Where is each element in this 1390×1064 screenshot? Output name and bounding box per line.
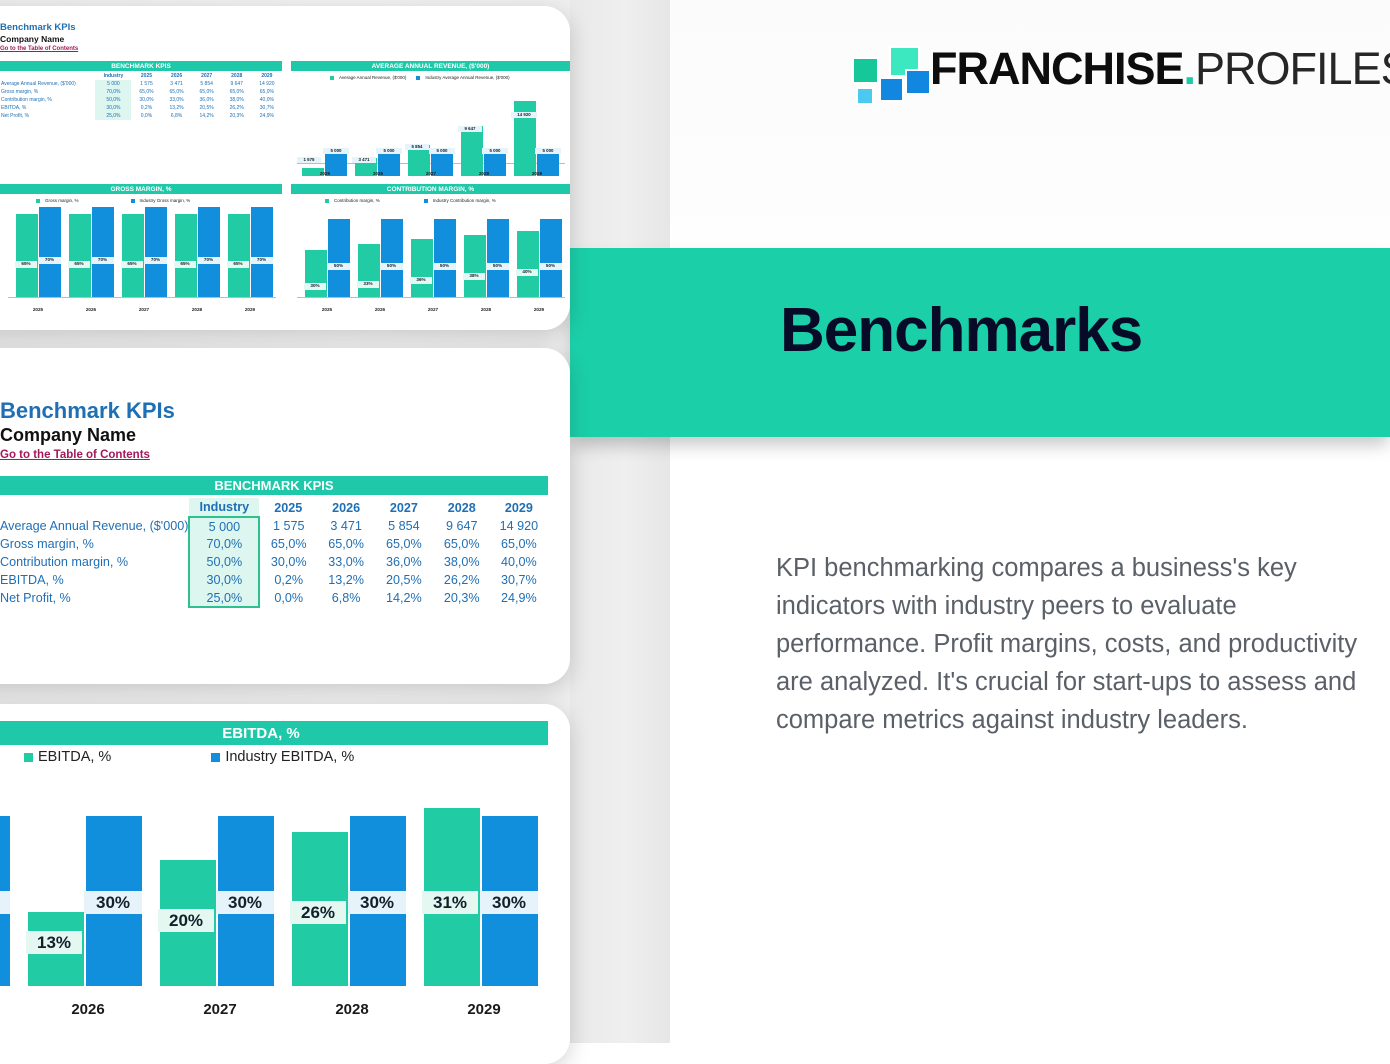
cell: 9 647 <box>222 80 252 88</box>
x-tick: 2028 <box>462 307 510 312</box>
cell: 65,0% <box>252 88 282 96</box>
data-label: 31% <box>422 891 478 914</box>
cell: 26,2% <box>222 104 252 112</box>
legend-label: Average Annual Revenue, ($'000) <box>339 75 406 80</box>
cell-industry: 50,0% <box>189 553 259 571</box>
sheet-title-small: Benchmark KPIs <box>0 22 76 33</box>
x-tick: 2029 <box>515 307 563 312</box>
cell: 3 471 <box>317 517 375 535</box>
col-2025: 2025 <box>131 72 161 80</box>
cell: 14,2% <box>375 589 433 607</box>
cell: 65,0% <box>192 88 222 96</box>
legend-label: Contribution margin, % <box>334 198 380 203</box>
brand-logo: FRANCHISE.PROFILES <box>852 44 1342 102</box>
x-tick: 2028 <box>286 1001 418 1018</box>
cell: 1 575 <box>259 517 317 535</box>
toc-link-small[interactable]: Go to the Table of Contents <box>0 46 78 52</box>
cell: 5 000 <box>95 80 131 88</box>
cell: 40,0% <box>252 96 282 104</box>
cell: 65,0% <box>162 88 192 96</box>
data-label: 5 000 <box>535 148 561 154</box>
col-2026: 2026 <box>317 498 375 517</box>
mini-plot-contribution: 30% 50% 33% 50% 36% 50% 38% 50% <box>297 206 565 314</box>
cell: 38,0% <box>433 553 491 571</box>
mini-chart-title-gross: GROSS MARGIN, % <box>0 184 282 194</box>
cell: 3 471 <box>162 80 192 88</box>
legend-label: Industry EBITDA, % <box>225 749 354 765</box>
ebitda-legend: EBITDA, % Industry EBITDA, % <box>24 749 354 765</box>
legend-label: Industry Contribution margin, % <box>433 198 496 203</box>
row-label: EBITDA, % <box>0 104 95 112</box>
x-tick: 2029 <box>513 171 561 176</box>
sheet-subtitle: Company Name <box>0 425 136 446</box>
x-tick: 2027 <box>407 171 455 176</box>
data-label: 65% <box>68 261 90 268</box>
data-label: 30% <box>84 891 142 914</box>
logo-square-4 <box>905 69 931 95</box>
cell: 14 920 <box>252 80 282 88</box>
x-tick: 2029 <box>226 307 274 312</box>
data-label: 5 000 <box>429 148 455 154</box>
cell: 65,0% <box>131 88 161 96</box>
legend-swatch-icon <box>416 76 420 80</box>
data-label: 14 920 <box>511 112 537 118</box>
mini-plot-revenue: 1 575 5 000 3 471 5 000 5 854 5 000 <box>297 84 565 176</box>
cell: 33,0% <box>317 553 375 571</box>
data-label: 70% <box>250 257 273 264</box>
col-2028: 2028 <box>222 72 252 80</box>
table-row: Net Profit, % 25,0% 0,0% 6,8% 14,2% 20,3… <box>0 589 547 607</box>
cell: 25,0% <box>95 112 131 120</box>
table-row: Net Profit, % 25,0% 0,0% 6,8% 14,2% 20,3… <box>0 112 282 120</box>
legend-swatch-icon <box>330 76 334 80</box>
row-label: EBITDA, % <box>0 571 189 589</box>
mini-legend-gross: Gross margin, % Industry Gross margin, % <box>36 198 190 203</box>
table-row: EBITDA, % 30,0% 0,2% 13,2% 20,5% 26,2% 3… <box>0 571 547 589</box>
x-tick: 2026 <box>22 1001 154 1018</box>
data-label: 20% <box>158 909 214 932</box>
table-row: Gross margin, % 70,0% 65,0% 65,0% 65,0% … <box>0 88 282 96</box>
data-label: 5 000 <box>323 148 349 154</box>
cell: 6,8% <box>317 589 375 607</box>
sheet-title: Benchmark KPIs <box>0 398 175 424</box>
logo-square-5 <box>856 87 874 105</box>
kpi-table-title: BENCHMARK KPIS <box>0 476 548 495</box>
data-label: 5 854 <box>405 144 429 150</box>
table-row: Contribution margin, % 50,0% 30,0% 33,0%… <box>0 553 547 571</box>
mini-table-title: BENCHMARK KPIS <box>0 61 282 71</box>
ebitda-chart-title: EBITDA, % <box>0 721 548 745</box>
cell: 26,2% <box>433 571 491 589</box>
legend-swatch-icon <box>424 199 428 203</box>
logo-word-profiles: PROFILES <box>1195 43 1390 94</box>
cell: 5 854 <box>192 80 222 88</box>
cell: 30,0% <box>259 553 317 571</box>
legend-label: Industry Average Annual Revenue, ($'000) <box>425 75 509 80</box>
col-2029: 2029 <box>491 498 547 517</box>
col-2029: 2029 <box>252 72 282 80</box>
spreadsheet-kpi-table: Benchmark KPIs Company Name Go to the Ta… <box>0 348 570 684</box>
cell: 65,0% <box>491 535 547 553</box>
data-label: 50% <box>486 263 509 270</box>
cell: 14,2% <box>192 112 222 120</box>
x-tick: 2027 <box>120 307 168 312</box>
data-label: 70% <box>197 257 220 264</box>
logo-dot: . <box>1184 43 1196 94</box>
background-strip-middle <box>570 0 670 1043</box>
col-2025: 2025 <box>259 498 317 517</box>
description-paragraph: KPI benchmarking compares a business's k… <box>776 549 1362 739</box>
col-industry: Industry <box>95 72 131 80</box>
cell: 65,0% <box>222 88 252 96</box>
background-strip-right <box>670 0 1390 1043</box>
cell-industry: 30,0% <box>189 571 259 589</box>
x-tick: 2028 <box>173 307 221 312</box>
data-label: 30% <box>216 891 274 914</box>
legend-swatch-icon <box>211 753 220 762</box>
cell: 6,8% <box>162 112 192 120</box>
cell: 30,7% <box>252 104 282 112</box>
row-label: Average Annual Revenue, ($'000) <box>0 517 189 535</box>
cell-industry: 25,0% <box>189 589 259 607</box>
data-label: 70% <box>91 257 114 264</box>
x-tick: 2025 <box>14 307 62 312</box>
data-label: 30% <box>480 891 538 914</box>
data-label: 9 647 <box>458 126 482 132</box>
data-label: 30% <box>348 891 406 914</box>
table-row: Average Annual Revenue, ($'000) 5 000 1 … <box>0 517 547 535</box>
data-label: 38% <box>463 273 485 280</box>
cell: 20,3% <box>222 112 252 120</box>
logo-square-1 <box>852 57 879 84</box>
data-label: 40% <box>516 269 538 276</box>
x-tick: 2025 <box>303 307 351 312</box>
cell-industry: 70,0% <box>189 535 259 553</box>
mini-chart-title-contribution: CONTRIBUTION MARGIN, % <box>291 184 570 194</box>
data-label: 50% <box>539 263 562 270</box>
cell: 0,0% <box>259 589 317 607</box>
data-label: 65% <box>227 261 249 268</box>
data-label: 13% <box>26 931 82 954</box>
cell: 36,0% <box>375 553 433 571</box>
cell: 30,7% <box>491 571 547 589</box>
legend-swatch-icon <box>131 199 135 203</box>
slide-card-kpi-table[interactable]: Benchmark KPIs Company Name Go to the Ta… <box>0 348 570 684</box>
cell: 65,0% <box>433 535 491 553</box>
table-row: Average Annual Revenue, ($'000) 5 000 1 … <box>0 80 282 88</box>
cell-industry: 5 000 <box>189 517 259 535</box>
cell: 30,0% <box>95 104 131 112</box>
table-row: EBITDA, % 30,0% 0,2% 13,2% 20,5% 26,2% 3… <box>0 104 282 112</box>
mini-plot-gross: 65% 70% 65% 70% 65% 70% 65% 70% <box>8 206 276 314</box>
legend-label: Gross margin, % <box>45 198 79 203</box>
cell: 20,5% <box>192 104 222 112</box>
row-label: Contribution margin, % <box>0 96 95 104</box>
data-label: 30% <box>0 891 10 914</box>
col-2027: 2027 <box>192 72 222 80</box>
cell: 70,0% <box>95 88 131 96</box>
legend-label: Industry Gross margin, % <box>140 198 191 203</box>
row-label: Gross margin, % <box>0 535 189 553</box>
x-tick: 2028 <box>460 171 508 176</box>
cell: 33,0% <box>162 96 192 104</box>
cell: 36,0% <box>192 96 222 104</box>
col-2026: 2026 <box>162 72 192 80</box>
cell: 38,0% <box>222 96 252 104</box>
data-label: 50% <box>433 263 456 270</box>
cell: 1 575 <box>131 80 161 88</box>
page-title: Benchmarks <box>780 300 1142 362</box>
col-2028: 2028 <box>433 498 491 517</box>
data-label: 33% <box>357 281 379 288</box>
legend-swatch-icon <box>325 199 329 203</box>
data-label: 50% <box>380 263 403 270</box>
data-label: 50% <box>327 263 350 270</box>
data-label: 70% <box>38 257 61 264</box>
toc-link[interactable]: Go to the Table of Contents <box>0 449 150 461</box>
data-label: 36% <box>410 277 432 284</box>
x-tick: 2026 <box>356 307 404 312</box>
spreadsheet-overview: Benchmark KPIs Company Name Go to the Ta… <box>0 6 570 330</box>
x-tick: 2026 <box>354 171 402 176</box>
x-tick: 2027 <box>409 307 457 312</box>
cell: 30,0% <box>131 96 161 104</box>
x-tick: 2029 <box>418 1001 550 1018</box>
logo-wordmark: FRANCHISE.PROFILES <box>930 40 1390 98</box>
banner-band: Benchmarks <box>570 248 1390 437</box>
cell: 13,2% <box>317 571 375 589</box>
row-label: Average Annual Revenue, ($'000) <box>0 80 95 88</box>
mini-legend-contribution: Contribution margin, % Industry Contribu… <box>325 198 496 203</box>
row-label: Net Profit, % <box>0 589 189 607</box>
sheet-subtitle-small: Company Name <box>0 34 64 44</box>
cell: 65,0% <box>317 535 375 553</box>
cell: 0,2% <box>259 571 317 589</box>
data-label: 30% <box>304 283 326 290</box>
cell: 65,0% <box>375 535 433 553</box>
slide-card-ebitda[interactable]: EBITDA, % EBITDA, % Industry EBITDA, % 3… <box>0 704 570 1064</box>
x-tick: 2025 <box>301 171 349 176</box>
mini-legend-revenue: Average Annual Revenue, ($'000) Industry… <box>330 75 510 80</box>
x-tick: 2026 <box>67 307 115 312</box>
cell: 65,0% <box>259 535 317 553</box>
legend-swatch-icon <box>24 753 33 762</box>
col-2027: 2027 <box>375 498 433 517</box>
cell: 13,2% <box>162 104 192 112</box>
mini-chart-title-revenue: AVERAGE ANNUAL REVENUE, ($'000) <box>291 61 570 71</box>
cell: 40,0% <box>491 553 547 571</box>
kpi-table: Industry 2025 2026 2027 2028 2029 Averag… <box>0 498 548 608</box>
legend-label: EBITDA, % <box>38 749 111 765</box>
logo-word-franchise: FRANCHISE <box>930 43 1184 94</box>
row-label: Gross margin, % <box>0 88 95 96</box>
logo-square-3 <box>879 77 904 102</box>
cell: 0,0% <box>131 112 161 120</box>
cell: 20,3% <box>433 589 491 607</box>
data-label: 1 575 <box>297 157 321 163</box>
cell: 9 647 <box>433 517 491 535</box>
data-label: 26% <box>290 901 346 924</box>
row-label: Contribution margin, % <box>0 553 189 571</box>
x-tick: 2027 <box>154 1001 286 1018</box>
mini-kpi-table: Industry 2025 2026 2027 2028 2029 Averag… <box>0 72 282 120</box>
slide-card-overview[interactable]: Benchmark KPIs Company Name Go to the Ta… <box>0 6 570 330</box>
table-row: Contribution margin, % 50,0% 30,0% 33,0%… <box>0 96 282 104</box>
data-label: 3 471 <box>352 157 376 163</box>
cell: 14 920 <box>491 517 547 535</box>
data-label: 70% <box>144 257 167 264</box>
cell: 24,9% <box>491 589 547 607</box>
data-label: 65% <box>121 261 143 268</box>
table-header-row: Industry 2025 2026 2027 2028 2029 <box>0 498 547 517</box>
data-label: 65% <box>15 261 37 268</box>
data-label: 65% <box>174 261 196 268</box>
legend-swatch-icon <box>36 199 40 203</box>
cell: 50,0% <box>95 96 131 104</box>
table-row: Gross margin, % 70,0% 65,0% 65,0% 65,0% … <box>0 535 547 553</box>
x-tick: 2025 <box>0 1001 22 1018</box>
data-label: 5 000 <box>482 148 508 154</box>
cell: 24,9% <box>252 112 282 120</box>
table-header-row: Industry 2025 2026 2027 2028 2029 <box>0 72 282 80</box>
cell: 20,5% <box>375 571 433 589</box>
data-label: 5 000 <box>376 148 402 154</box>
spreadsheet-ebitda: EBITDA, % EBITDA, % Industry EBITDA, % 3… <box>0 704 570 1064</box>
row-label: Net Profit, % <box>0 112 95 120</box>
cell: 5 854 <box>375 517 433 535</box>
ebitda-plot: 30% 2025 13% 30% 2026 20% 30% 2027 <box>0 782 548 1022</box>
col-industry: Industry <box>189 498 259 517</box>
cell: 0,2% <box>131 104 161 112</box>
